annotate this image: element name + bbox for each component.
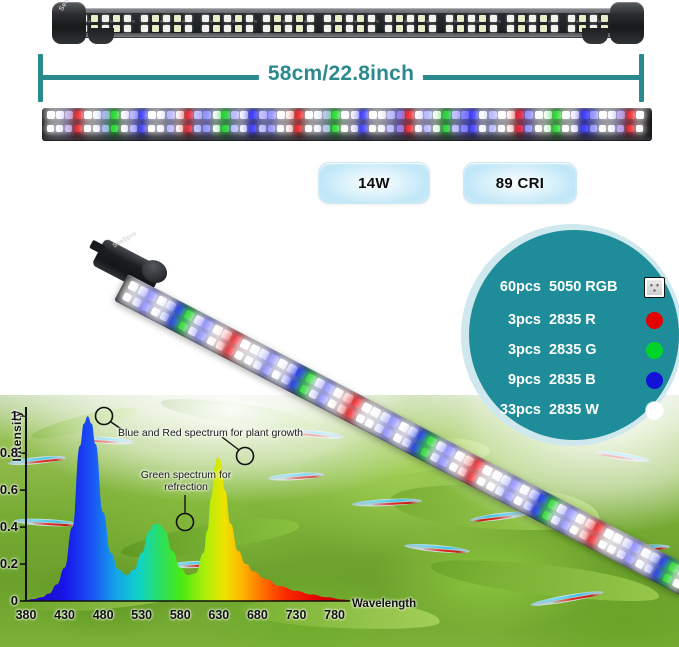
led-emitter-lit bbox=[271, 369, 282, 380]
led-emitter-lit bbox=[617, 125, 624, 132]
led-emitter bbox=[235, 25, 242, 32]
led-spec-row-1: 3pcs2835 R bbox=[469, 307, 667, 333]
led-emitter bbox=[235, 15, 242, 22]
led-emitter-lit bbox=[383, 428, 394, 439]
led-emitter-lit bbox=[240, 111, 248, 119]
led-emitter bbox=[357, 25, 364, 32]
led-emitter-lit bbox=[364, 418, 375, 429]
x-tick-380: 380 bbox=[9, 608, 43, 622]
led-emitter-lit bbox=[461, 125, 468, 132]
led-emitter-lit bbox=[448, 462, 459, 473]
spectrum-curve bbox=[26, 416, 350, 601]
led-emitter bbox=[407, 25, 414, 32]
x-tick-530: 530 bbox=[125, 608, 159, 622]
led-spec-list: 60pcs5050 RGB3pcs2835 R3pcs2835 G9pcs283… bbox=[469, 230, 679, 440]
led-emitter-lit bbox=[525, 111, 533, 119]
led-emitter-lit bbox=[476, 476, 487, 487]
led-emitter-lit bbox=[168, 316, 179, 327]
led-emitter bbox=[446, 25, 453, 32]
led-emitter-lit bbox=[608, 111, 616, 119]
led-emitter-lit bbox=[415, 125, 422, 132]
led-emitter-lit bbox=[234, 350, 245, 361]
led-emitter-lit bbox=[150, 306, 161, 317]
led-emitter bbox=[185, 15, 192, 22]
led-emitter-lit bbox=[443, 125, 450, 132]
led-spec-type: 5050 RGB bbox=[549, 279, 641, 295]
led-emitter bbox=[479, 25, 486, 32]
led-emitter-lit bbox=[215, 340, 226, 351]
dimension-label: 58cm/22.8inch bbox=[259, 62, 423, 86]
led-emitter-lit bbox=[411, 442, 422, 453]
led-emitter bbox=[551, 15, 558, 22]
led-emitter-lit bbox=[159, 311, 170, 322]
led-emitter bbox=[418, 15, 425, 22]
led-spec-swatch bbox=[641, 277, 667, 298]
led-spec-type: 2835 W bbox=[549, 402, 641, 418]
led-emitter bbox=[446, 15, 453, 22]
y-tick-0: 0 bbox=[0, 593, 18, 608]
led-emitter bbox=[490, 25, 497, 32]
x-tick-480: 480 bbox=[86, 608, 120, 622]
led-emitter-lit bbox=[369, 111, 377, 119]
led-emitter-lit bbox=[522, 500, 533, 511]
led-emitter-lit bbox=[571, 125, 578, 132]
led-color-dot bbox=[646, 372, 663, 389]
pcb-component bbox=[376, 20, 379, 23]
led-emitter-lit bbox=[406, 111, 414, 119]
led-spec-swatch bbox=[641, 402, 667, 419]
led-emitter-lit bbox=[314, 125, 321, 132]
led-emitter-lit bbox=[222, 111, 230, 119]
led-emitter-lit bbox=[550, 515, 561, 526]
led-emitter bbox=[141, 25, 148, 32]
led-emitter-lit bbox=[252, 360, 263, 371]
annotation-green-leaders bbox=[177, 495, 194, 531]
led-emitter-lit bbox=[140, 302, 151, 313]
led-spec-qty: 3pcs bbox=[469, 342, 549, 358]
led-emitter-lit bbox=[213, 125, 220, 132]
led-emitter bbox=[407, 15, 414, 22]
pcb-component bbox=[254, 20, 257, 23]
led-emitter-lit bbox=[102, 111, 110, 119]
led-emitter-lit bbox=[280, 374, 291, 385]
led-emitter-lit bbox=[157, 125, 164, 132]
led-emitter bbox=[429, 25, 436, 32]
led-emitter-lit bbox=[373, 423, 384, 434]
led-emitter-lit bbox=[185, 125, 192, 132]
led-emitter-lit bbox=[259, 111, 267, 119]
led-emitter-lit bbox=[541, 510, 552, 521]
led-spec-qty: 33pcs bbox=[469, 402, 549, 418]
led-emitter-lit bbox=[286, 111, 294, 119]
led-emitter bbox=[507, 15, 514, 22]
led-emitter-lit bbox=[429, 452, 440, 463]
led-emitter-lit bbox=[424, 111, 432, 119]
led-emitter-lit bbox=[433, 111, 441, 119]
led-emitter-lit bbox=[397, 111, 405, 119]
led-emitter bbox=[274, 15, 281, 22]
led-emitter-lit bbox=[369, 125, 376, 132]
led-emitter-lit bbox=[224, 345, 235, 356]
y-tick-0.8: 0.8 bbox=[0, 445, 18, 460]
led-emitter-lit bbox=[148, 111, 156, 119]
led-emitter bbox=[551, 25, 558, 32]
led-emitter bbox=[263, 25, 270, 32]
led-spec-swatch bbox=[641, 342, 667, 359]
annotation-marker-red-peak bbox=[237, 448, 254, 465]
led-emitter-lit bbox=[562, 125, 569, 132]
led-emitter-lit bbox=[289, 379, 300, 390]
led-emitter bbox=[507, 25, 514, 32]
led-emitter-lit bbox=[130, 125, 137, 132]
led-emitter-lit bbox=[84, 111, 92, 119]
led-emitter-lit bbox=[203, 125, 210, 132]
x-tick-730: 730 bbox=[279, 608, 313, 622]
x-tick-780: 780 bbox=[318, 608, 352, 622]
annotation-marker-blue-peak bbox=[96, 408, 113, 425]
led-emitter-lit bbox=[355, 413, 366, 424]
led-emitter-lit bbox=[525, 125, 532, 132]
led-emitter bbox=[601, 15, 608, 22]
led-emitter-lit bbox=[345, 408, 356, 419]
led-emitter-lit bbox=[157, 111, 165, 119]
led-emitter-lit bbox=[397, 125, 404, 132]
led-emitter bbox=[224, 25, 231, 32]
led-emitter-lit bbox=[176, 111, 184, 119]
led-emitter-lit bbox=[489, 111, 497, 119]
led-emitter-lit bbox=[249, 125, 256, 132]
led-emitter bbox=[213, 25, 220, 32]
led-emitter bbox=[174, 15, 181, 22]
led-emitter-lit bbox=[178, 321, 189, 332]
led-emitter-lit bbox=[93, 111, 101, 119]
led-emitter bbox=[296, 15, 303, 22]
x-tick-630: 630 bbox=[202, 608, 236, 622]
led-emitter-lit bbox=[341, 111, 349, 119]
led-emitter bbox=[163, 25, 170, 32]
led-emitter-lit bbox=[148, 125, 155, 132]
led-emitter-lit bbox=[75, 125, 82, 132]
led-spec-row-2: 3pcs2835 G bbox=[469, 337, 667, 363]
led-emitter-lit bbox=[571, 111, 579, 119]
led-emitter-lit bbox=[268, 125, 275, 132]
led-emitter-lit bbox=[387, 111, 395, 119]
led-emitter-lit bbox=[392, 432, 403, 443]
led-emitter-lit bbox=[387, 125, 394, 132]
led-emitter bbox=[368, 25, 375, 32]
led-emitter-lit bbox=[130, 111, 138, 119]
led-emitter bbox=[490, 15, 497, 22]
led-emitter-lit bbox=[111, 111, 119, 119]
led-emitter-lit bbox=[308, 389, 319, 400]
led-emitter-lit bbox=[461, 111, 469, 119]
mounting-bracket-right bbox=[582, 28, 608, 44]
led-emitter bbox=[346, 15, 353, 22]
led-emitter-lit bbox=[65, 111, 73, 119]
annotation-green-text: Green spectrum for refrection bbox=[140, 469, 232, 493]
led-emitter-lit bbox=[121, 111, 129, 119]
led-emitter bbox=[113, 25, 120, 32]
led-emitter bbox=[479, 15, 486, 22]
led-spec-swatch bbox=[641, 312, 667, 329]
led-emitter-lit bbox=[84, 125, 91, 132]
led-emitter-lit bbox=[268, 111, 276, 119]
led-emitter bbox=[396, 25, 403, 32]
led-emitter bbox=[540, 25, 547, 32]
led-emitter bbox=[540, 15, 547, 22]
led-emitter-lit bbox=[336, 403, 347, 414]
led-emitter bbox=[124, 15, 131, 22]
led-emitter-lit bbox=[653, 568, 664, 579]
led-emitter-lit bbox=[93, 125, 100, 132]
led-spec-qty: 60pcs bbox=[469, 279, 549, 295]
led-spec-type: 2835 R bbox=[549, 312, 641, 328]
led-emitter bbox=[518, 25, 525, 32]
led-emitter-lit bbox=[203, 111, 211, 119]
spectrum-chart: Intensity 00.20.40.60.81 380430480530580… bbox=[0, 395, 420, 647]
led-spec-type: 2835 B bbox=[549, 372, 641, 388]
led-emitter-lit bbox=[581, 111, 589, 119]
led-emitter-lit bbox=[634, 559, 645, 570]
led-emitter bbox=[568, 25, 575, 32]
led-emitter-lit bbox=[139, 111, 147, 119]
led-emitter bbox=[335, 15, 342, 22]
led-emitter-lit bbox=[553, 111, 561, 119]
led-emitter-lit bbox=[553, 125, 560, 132]
led-emitter-lit bbox=[507, 111, 515, 119]
led-emitter-lit bbox=[608, 125, 615, 132]
led-emitter-lit bbox=[415, 111, 423, 119]
led-emitter-lit bbox=[562, 111, 570, 119]
led-emitter bbox=[124, 25, 131, 32]
led-bar-endcap-left: SeaSpro bbox=[52, 2, 86, 44]
led-emitter bbox=[429, 15, 436, 22]
led-emitter-lit bbox=[457, 466, 468, 477]
y-tick-1: 1 bbox=[0, 408, 18, 423]
led-emitter-lit bbox=[295, 125, 302, 132]
led-emitter-lit bbox=[516, 111, 524, 119]
led-emitter-lit bbox=[498, 125, 505, 132]
led-emitter-lit bbox=[65, 125, 72, 132]
led-emitter-lit bbox=[111, 125, 118, 132]
led-emitter-lit bbox=[187, 326, 198, 337]
led-emitter-lit bbox=[466, 471, 477, 482]
led-emitter-lit bbox=[194, 125, 201, 132]
led-emitter-lit bbox=[479, 111, 487, 119]
led-emitter-lit bbox=[470, 125, 477, 132]
led-emitter-lit bbox=[139, 125, 146, 132]
led-emitter-lit bbox=[617, 111, 625, 119]
led-emitter-lit bbox=[327, 399, 338, 410]
led-emitter-lit bbox=[323, 125, 330, 132]
led-color-dot bbox=[646, 342, 663, 359]
led-emitter-lit bbox=[627, 125, 634, 132]
led-emitter-lit bbox=[599, 125, 606, 132]
badge-wattage[interactable]: 14W bbox=[318, 162, 430, 204]
led-emitter bbox=[174, 25, 181, 32]
led-emitter-lit bbox=[185, 111, 193, 119]
x-tick-680: 680 bbox=[240, 608, 274, 622]
badge-cri[interactable]: 89 CRI bbox=[463, 162, 577, 204]
led-emitter-lit bbox=[668, 561, 679, 573]
led-emitter-lit bbox=[56, 125, 63, 132]
led-emitter-lit bbox=[615, 549, 626, 560]
led-emitter-lit bbox=[452, 111, 460, 119]
led-emitter-lit bbox=[167, 111, 175, 119]
led-emitter-lit bbox=[378, 111, 386, 119]
led-emitter-lit bbox=[587, 534, 598, 545]
led-emitter bbox=[568, 15, 575, 22]
led-emitter-lit bbox=[121, 125, 128, 132]
led-emitter bbox=[385, 25, 392, 32]
led-color-dot bbox=[646, 312, 663, 329]
led-emitter bbox=[385, 15, 392, 22]
led-emitter-lit bbox=[420, 447, 431, 458]
x-axis-label: Wavelength bbox=[352, 598, 416, 610]
led-emitter-lit bbox=[231, 125, 238, 132]
y-tick-0.4: 0.4 bbox=[0, 519, 18, 534]
led-emitter-lit bbox=[636, 111, 644, 119]
led-emitter-lit bbox=[485, 481, 496, 492]
led-emitter-lit bbox=[259, 125, 266, 132]
led-emitter-lit bbox=[213, 111, 221, 119]
led-emitter bbox=[246, 25, 253, 32]
led-spec-qty: 3pcs bbox=[469, 312, 549, 328]
led-emitter bbox=[202, 15, 209, 22]
led-emitter-lit bbox=[176, 125, 183, 132]
led-emitter-lit bbox=[401, 437, 412, 448]
led-emitter-lit bbox=[662, 573, 673, 584]
led-emitter-lit bbox=[75, 111, 83, 119]
led-emitter-lit bbox=[56, 111, 64, 119]
led-emitter-lit bbox=[277, 111, 285, 119]
infographic-stage: Intensity 00.20.40.60.81 380430480530580… bbox=[0, 0, 679, 647]
led-emitter bbox=[579, 15, 586, 22]
led-emitter bbox=[285, 15, 292, 22]
led-emitter-lit bbox=[470, 111, 478, 119]
led-emitter bbox=[324, 25, 331, 32]
led-emitter-lit bbox=[438, 457, 449, 468]
led-emitter-lit bbox=[560, 520, 571, 531]
led-emitter-lit bbox=[479, 125, 486, 132]
led-spec-row-0: 60pcs5050 RGB bbox=[469, 274, 667, 300]
led-emitter-lit bbox=[636, 125, 643, 132]
led-emitter-lit bbox=[494, 486, 505, 497]
led-emitter-lit bbox=[606, 544, 617, 555]
led-emitter bbox=[335, 25, 342, 32]
led-emitter bbox=[396, 15, 403, 22]
led-emitter bbox=[152, 25, 159, 32]
led-emitter-lit bbox=[167, 125, 174, 132]
led-emitter bbox=[468, 15, 475, 22]
led-emitter-lit bbox=[489, 125, 496, 132]
led-spec-swatch bbox=[641, 372, 667, 389]
led-emitter bbox=[141, 15, 148, 22]
led-emitter-lit bbox=[277, 125, 284, 132]
annotation-marker-green-peak bbox=[177, 514, 194, 531]
led-emitter-lit bbox=[378, 125, 385, 132]
led-emitter-lit bbox=[569, 525, 580, 536]
led-emitter-lit bbox=[590, 111, 598, 119]
led-emitter bbox=[357, 15, 364, 22]
led-emitter bbox=[285, 25, 292, 32]
led-emitter bbox=[457, 15, 464, 22]
led-emitter bbox=[307, 15, 314, 22]
led-spec-type: 2835 G bbox=[549, 342, 641, 358]
led-emitter bbox=[91, 15, 98, 22]
led-emitter bbox=[324, 15, 331, 22]
led-emitter-lit bbox=[532, 505, 543, 516]
led-emitter-lit bbox=[513, 495, 524, 506]
led-emitter-lit bbox=[102, 125, 109, 132]
led-emitter-lit bbox=[535, 125, 542, 132]
led-emitter-lit bbox=[535, 111, 543, 119]
pcb-component bbox=[132, 20, 135, 23]
led-emitter bbox=[263, 15, 270, 22]
led-emitter-lit bbox=[433, 125, 440, 132]
led-emitter-lit bbox=[314, 111, 322, 119]
x-tick-430: 430 bbox=[48, 608, 82, 622]
led-emitter-lit bbox=[544, 125, 551, 132]
led-emitter bbox=[246, 15, 253, 22]
led-spec-row-3: 9pcs2835 B bbox=[469, 367, 667, 393]
led-emitter bbox=[113, 15, 120, 22]
led-emitter-lit bbox=[516, 125, 523, 132]
led-emitter-lit bbox=[286, 125, 293, 132]
led-emitter-lit bbox=[299, 384, 310, 395]
led-emitter bbox=[368, 15, 375, 22]
led-emitter-lit bbox=[351, 111, 359, 119]
led-bar-housing bbox=[74, 8, 624, 38]
led-emitter-lit bbox=[240, 125, 247, 132]
led-emitter-lit bbox=[597, 539, 608, 550]
led-emitter-lit bbox=[578, 529, 589, 540]
led-emitter-lit bbox=[122, 292, 133, 303]
led-emitter-lit bbox=[424, 125, 431, 132]
led-emitter-lit bbox=[498, 111, 506, 119]
pcb-component bbox=[498, 20, 501, 23]
led-emitter-lit bbox=[625, 554, 636, 565]
led-emitter-lit bbox=[507, 125, 514, 132]
led-emitter-lit bbox=[47, 111, 55, 119]
led-emitter-lit bbox=[261, 365, 272, 376]
dimension-indicator: 58cm/22.8inch bbox=[38, 54, 644, 102]
led-emitter-lit bbox=[627, 111, 635, 119]
led-emitter-lit bbox=[305, 111, 313, 119]
led-emitter-lit bbox=[590, 125, 597, 132]
led-emitter-lit bbox=[351, 125, 358, 132]
led-emitter-lit bbox=[360, 111, 368, 119]
led-chip-5050-icon bbox=[644, 277, 665, 298]
led-emitter-lit bbox=[196, 331, 207, 342]
led-emitter bbox=[418, 25, 425, 32]
led-emitter-lit bbox=[131, 297, 142, 308]
led-emitter-lit bbox=[243, 355, 254, 366]
led-emitter-lit bbox=[599, 111, 607, 119]
led-emitter bbox=[346, 25, 353, 32]
led-emitter bbox=[213, 15, 220, 22]
led-emitter-lit bbox=[222, 125, 229, 132]
led-emitter-lit bbox=[443, 111, 451, 119]
led-emitter-lit bbox=[332, 125, 339, 132]
led-emitter-lit bbox=[581, 125, 588, 132]
led-emitter-lit bbox=[47, 125, 54, 132]
led-emitter-lit bbox=[194, 111, 202, 119]
led-emitter bbox=[185, 25, 192, 32]
led-strip-illuminated bbox=[42, 108, 652, 141]
led-emitter bbox=[518, 15, 525, 22]
led-emitter bbox=[163, 15, 170, 22]
